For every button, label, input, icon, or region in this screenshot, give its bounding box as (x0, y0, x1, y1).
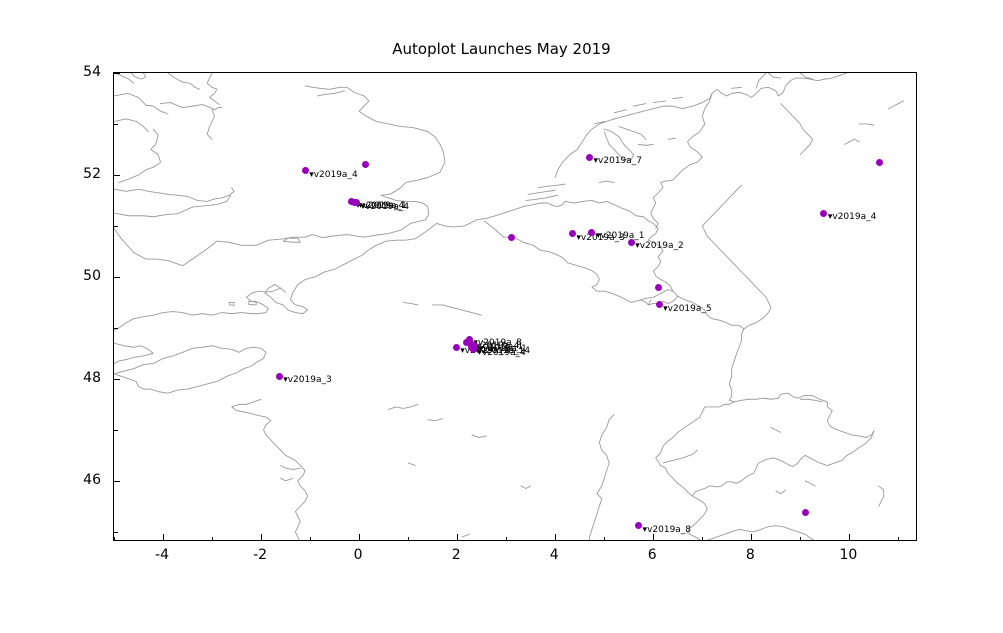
scatter-point-label: ▾v2019a_4 (361, 203, 410, 212)
scatter-point (471, 342, 478, 349)
scatter-points-layer: ▾v2019a_4▾v2019a_4▾v2019a_1▾v2019a_4▾v20… (114, 73, 917, 541)
x-tick (702, 537, 703, 541)
x-tick-label: 4 (550, 547, 559, 563)
scatter-point (655, 284, 662, 291)
x-tick (849, 534, 850, 540)
scatter-point-label: ▾v2019a_7 (594, 157, 643, 166)
y-tick-label: 50 (1, 268, 101, 284)
x-tick-label: -2 (253, 547, 267, 563)
y-tick (114, 430, 118, 431)
x-tick (555, 534, 556, 540)
map-axes[interactable]: ▾v2019a_4▾v2019a_4▾v2019a_1▾v2019a_4▾v20… (113, 72, 917, 541)
y-tick-label: 48 (1, 370, 101, 386)
y-tick (114, 175, 120, 176)
x-tick (163, 534, 164, 540)
y-tick (114, 328, 118, 329)
y-tick-label: 46 (1, 472, 101, 488)
y-tick-label: 54 (1, 64, 101, 80)
scatter-point (302, 167, 309, 174)
x-tick (653, 534, 654, 540)
y-tick (114, 73, 120, 74)
scatter-point (820, 210, 827, 217)
scatter-point (656, 301, 663, 308)
scatter-point-label: ▾v2019a_3 (283, 376, 332, 385)
x-tick (359, 534, 360, 540)
scatter-point-label: ▾v2019a_5 (663, 305, 712, 314)
scatter-point (362, 161, 369, 168)
x-tick (114, 537, 115, 541)
scatter-point (453, 344, 460, 351)
scatter-point (569, 230, 576, 237)
x-tick-label: 6 (648, 547, 657, 563)
scatter-point-label: ▾v2019a_2 (635, 242, 684, 251)
scatter-point (635, 522, 642, 529)
scatter-point (876, 159, 883, 166)
scatter-point-label: ▾v2019a_8 (643, 526, 692, 535)
matplotlib-figure: Autoplot Launches May 2019 (0, 0, 1003, 633)
x-tick (261, 534, 262, 540)
scatter-point-label: ▾v2019a_4 (828, 213, 877, 222)
x-tick (898, 537, 899, 541)
x-tick (800, 537, 801, 541)
scatter-point (628, 239, 635, 246)
page-title: Autoplot Launches May 2019 (0, 40, 1003, 58)
scatter-point-label: ▾v2019a_1 (596, 232, 645, 241)
y-tick (114, 379, 120, 380)
y-tick (114, 226, 118, 227)
scatter-point (802, 509, 809, 516)
scatter-point (276, 373, 283, 380)
x-tick-label: 10 (839, 547, 857, 563)
y-tick (114, 277, 120, 278)
x-tick (604, 537, 605, 541)
x-tick (751, 534, 752, 540)
x-tick (457, 534, 458, 540)
scatter-point-label: ▾v2019a_4 (309, 171, 358, 180)
y-tick (114, 124, 118, 125)
scatter-point (508, 234, 515, 241)
x-tick (212, 537, 213, 541)
x-tick-label: 0 (354, 547, 363, 563)
x-tick-label: 8 (746, 547, 755, 563)
scatter-point (586, 154, 593, 161)
y-tick (114, 481, 120, 482)
scatter-point-label: ▾v2019a_1 (478, 345, 527, 354)
x-tick (310, 537, 311, 541)
x-tick (408, 537, 409, 541)
x-tick-label: -4 (155, 547, 169, 563)
x-tick (506, 537, 507, 541)
x-tick-label: 2 (452, 547, 461, 563)
y-tick (114, 532, 118, 533)
y-tick-label: 52 (1, 166, 101, 182)
